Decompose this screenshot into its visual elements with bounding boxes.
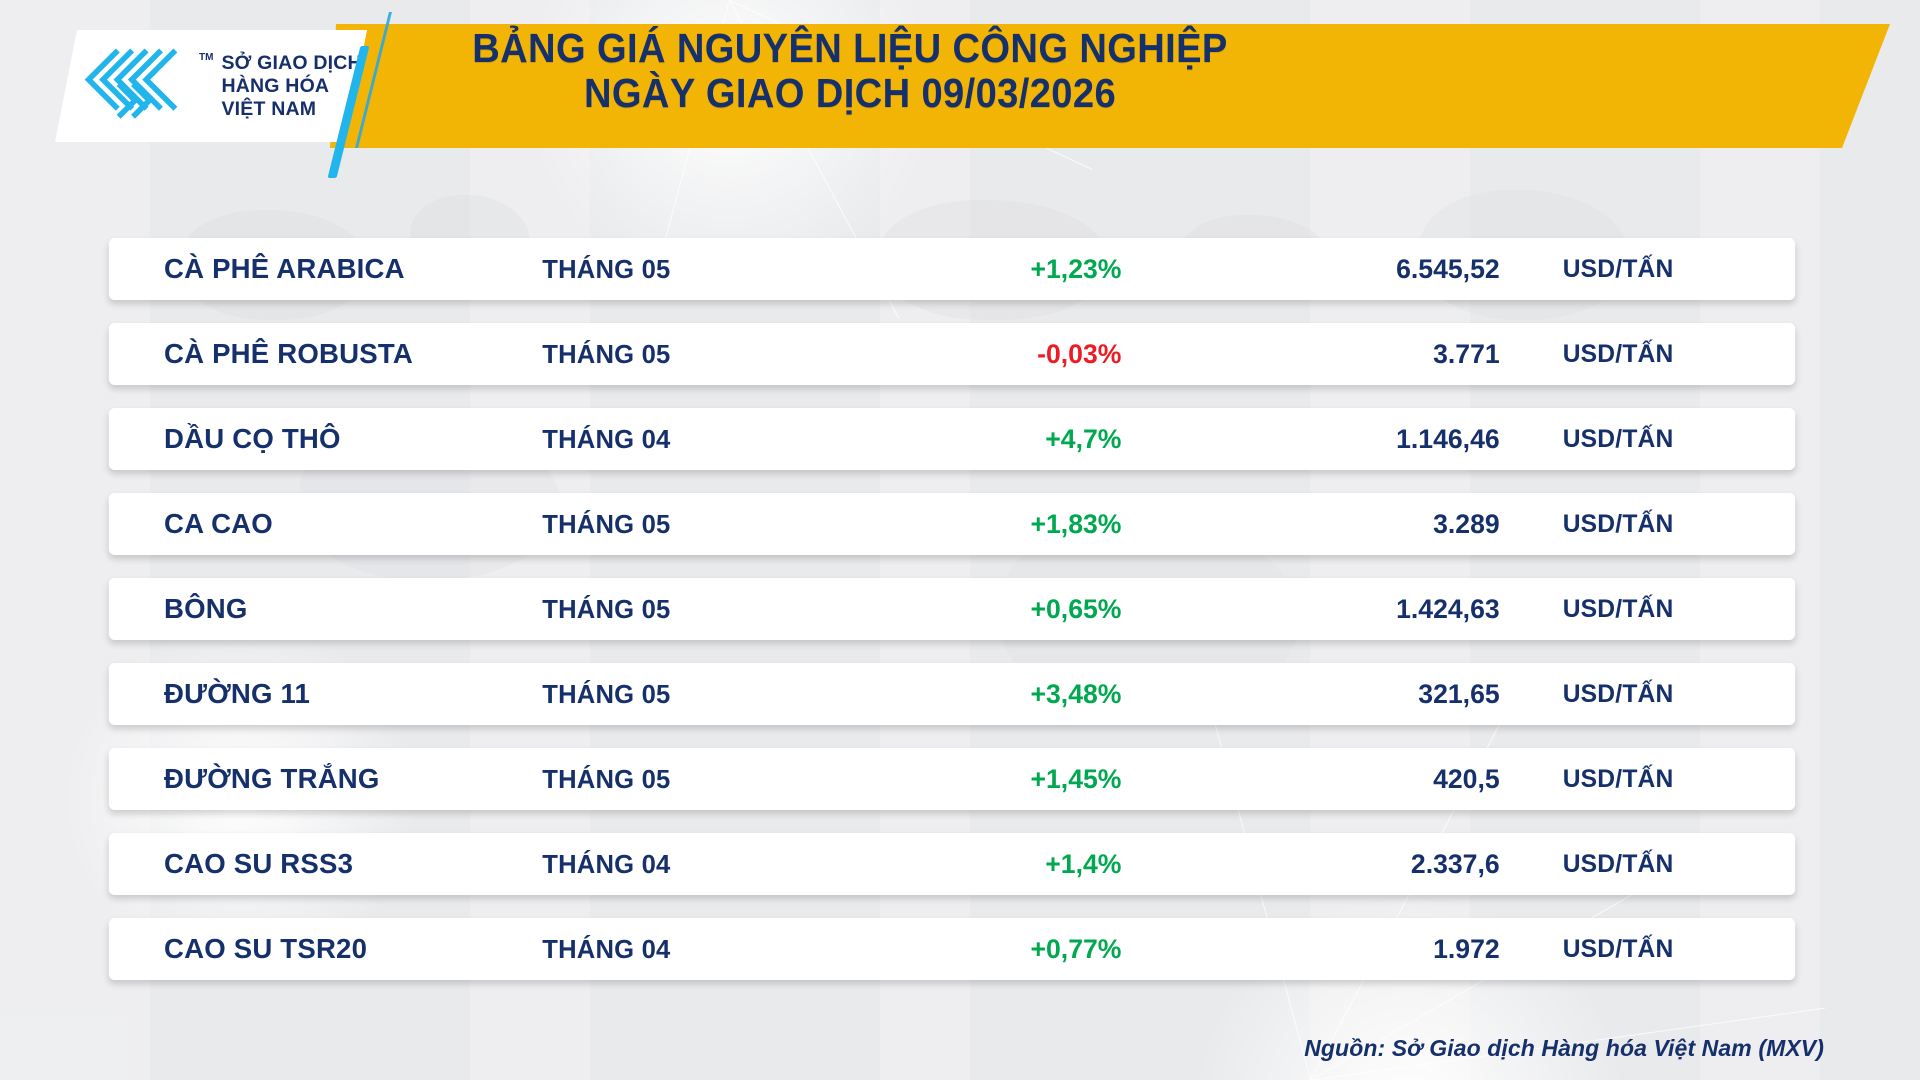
table-row[interactable]: CÀ PHÊ ARABICATHÁNG 05+1,23%6.545,52USD/… <box>109 238 1795 300</box>
table-row[interactable]: CÀ PHÊ ROBUSTATHÁNG 05-0,03%3.771USD/TẤN <box>109 323 1795 385</box>
price-value: 2.337,6 <box>1173 849 1537 880</box>
price-value: 1.146,46 <box>1173 424 1537 455</box>
price-value: 3.771 <box>1173 339 1537 370</box>
contract-month: THÁNG 05 <box>542 594 838 625</box>
brand-name-line-2: HÀNG HÓA <box>221 75 329 97</box>
price-change: +3,48% <box>838 679 1173 710</box>
price-value: 321,65 <box>1173 679 1537 710</box>
commodity-name: BÔNG <box>109 593 542 625</box>
page-title: BẢNG GIÁ NGUYÊN LIỆU CÔNG NGHIỆP NGÀY GI… <box>339 26 1362 116</box>
source-note: Nguồn: Sở Giao dịch Hàng hóa Việt Nam (M… <box>1304 1035 1824 1062</box>
price-value: 1.972 <box>1173 934 1537 965</box>
commodity-name: CÀ PHÊ ARABICA <box>109 253 542 285</box>
commodity-name: ĐƯỜNG 11 <box>109 678 542 710</box>
commodity-name: CA CAO <box>109 508 542 540</box>
price-unit: USD/TẤN <box>1537 255 1795 284</box>
table-row[interactable]: ĐƯỜNG 11THÁNG 05+3,48%321,65USD/TẤN <box>109 663 1795 725</box>
price-change: +4,7% <box>838 424 1173 455</box>
contract-month: THÁNG 05 <box>542 764 838 795</box>
page-title-line-1: BẢNG GIÁ NGUYÊN LIỆU CÔNG NGHIỆP <box>339 26 1362 71</box>
commodity-name: CAO SU TSR20 <box>109 933 542 965</box>
commodity-name: DẦU CỌ THÔ <box>109 423 542 455</box>
price-unit: USD/TẤN <box>1537 765 1795 794</box>
brand-name-line-3: VIỆT NAM <box>221 98 316 120</box>
price-unit: USD/TẤN <box>1537 510 1795 539</box>
price-unit: USD/TẤN <box>1537 935 1795 964</box>
price-change: +1,45% <box>838 764 1173 795</box>
price-change: -0,03% <box>838 339 1173 370</box>
contract-month: THÁNG 04 <box>542 424 838 455</box>
price-value: 420,5 <box>1173 764 1537 795</box>
price-unit: USD/TẤN <box>1537 595 1795 624</box>
commodity-price-table: CÀ PHÊ ARABICATHÁNG 05+1,23%6.545,52USD/… <box>96 238 1808 1003</box>
commodity-name: CÀ PHÊ ROBUSTA <box>109 338 542 370</box>
price-value: 6.545,52 <box>1173 254 1537 285</box>
page-title-line-2: NGÀY GIAO DỊCH 09/03/2026 <box>339 71 1362 116</box>
mxv-logo-icon <box>79 46 191 126</box>
price-unit: USD/TẤN <box>1537 680 1795 709</box>
contract-month: THÁNG 05 <box>542 339 838 370</box>
table-row[interactable]: CAO SU TSR20THÁNG 04+0,77%1.972USD/TẤN <box>109 918 1795 980</box>
table-row[interactable]: BÔNGTHÁNG 05+0,65%1.424,63USD/TẤN <box>109 578 1795 640</box>
table-row[interactable]: CAO SU RSS3THÁNG 04+1,4%2.337,6USD/TẤN <box>109 833 1795 895</box>
table-row[interactable]: ĐƯỜNG TRẮNGTHÁNG 05+1,45%420,5USD/TẤN <box>109 748 1795 810</box>
price-unit: USD/TẤN <box>1537 340 1795 369</box>
price-change: +1,4% <box>838 849 1173 880</box>
price-change: +1,83% <box>838 509 1173 540</box>
price-change: +0,65% <box>838 594 1173 625</box>
brand-logo-card: TM SỞ GIAO DỊCH HÀNG HÓA VIỆT NAM <box>55 30 367 142</box>
contract-month: THÁNG 04 <box>542 934 838 965</box>
contract-month: THÁNG 04 <box>542 849 838 880</box>
table-row[interactable]: DẦU CỌ THÔTHÁNG 04+4,7%1.146,46USD/TẤN <box>109 408 1795 470</box>
page-header: BẢNG GIÁ NGUYÊN LIỆU CÔNG NGHIỆP NGÀY GI… <box>0 0 1920 175</box>
price-value: 1.424,63 <box>1173 594 1537 625</box>
trademark-label: TM <box>199 52 213 63</box>
price-unit: USD/TẤN <box>1537 850 1795 879</box>
price-unit: USD/TẤN <box>1537 425 1795 454</box>
commodity-name: ĐƯỜNG TRẮNG <box>109 763 542 795</box>
brand-name-line-1: SỞ GIAO DỊCH <box>221 52 361 74</box>
contract-month: THÁNG 05 <box>542 679 838 710</box>
commodity-name: CAO SU RSS3 <box>109 848 542 880</box>
table-row[interactable]: CA CAOTHÁNG 05+1,83%3.289USD/TẤN <box>109 493 1795 555</box>
price-change: +1,23% <box>838 254 1173 285</box>
contract-month: THÁNG 05 <box>542 254 838 285</box>
price-change: +0,77% <box>838 934 1173 965</box>
price-value: 3.289 <box>1173 509 1537 540</box>
brand-name: SỞ GIAO DỊCH HÀNG HÓA VIỆT NAM <box>221 52 361 121</box>
contract-month: THÁNG 05 <box>542 509 838 540</box>
